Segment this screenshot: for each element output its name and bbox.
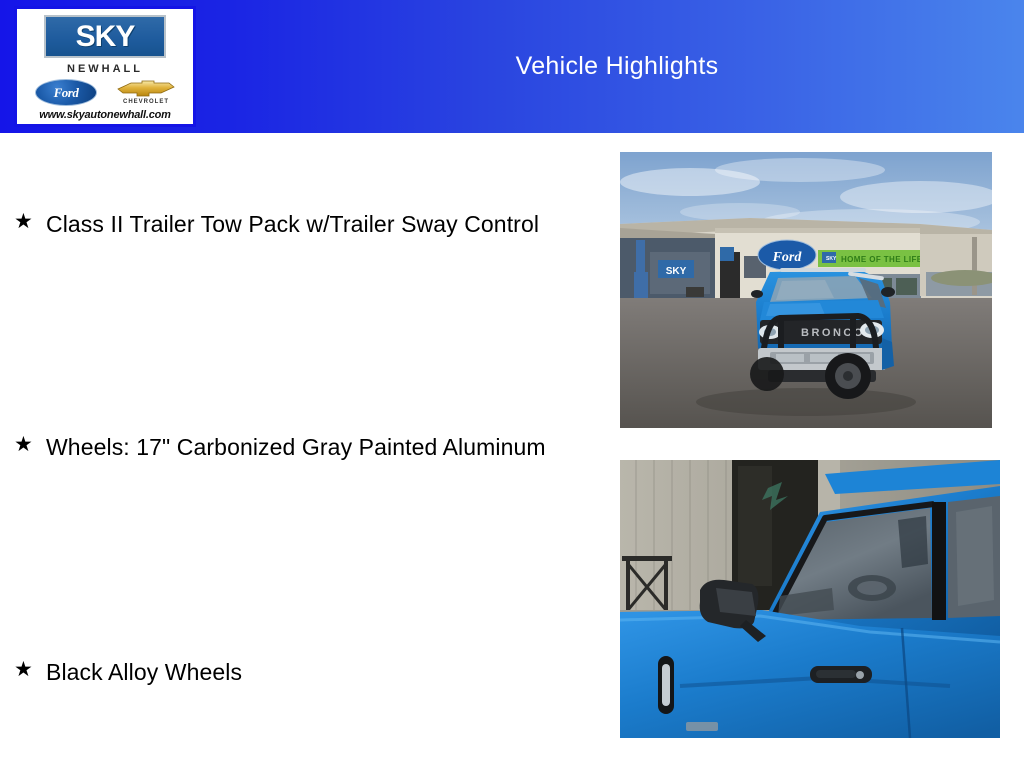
dealer-website-url[interactable]: www.skyautonewhall.com [39,109,171,121]
star-bullet-icon: ★ [14,430,46,460]
vehicle-photo-exterior-front[interactable]: SKY Ford SKY HOME OF THE LIFETIME WARRAN… [620,152,992,428]
chevrolet-logo-group: CHEVROLET [117,80,175,105]
vehicle-highlights-list: ★ Class II Trailer Tow Pack w/Trailer Sw… [0,133,600,768]
svg-text:Ford: Ford [772,250,803,265]
dealer-logo[interactable]: SKY NEWHALL Ford CHEVROLET [14,6,196,127]
sky-brand-badge: SKY [44,15,166,58]
star-bullet-icon: ★ [14,655,46,685]
list-item: ★ Wheels: 17" Carbonized Gray Painted Al… [14,430,574,464]
dealer-location-text: NEWHALL [67,63,143,75]
chevrolet-bowtie-icon [117,80,175,98]
star-bullet-icon: ★ [14,207,46,237]
page-title: Vehicle Highlights [210,0,1024,133]
highlight-text: Wheels: 17" Carbonized Gray Painted Alum… [46,430,546,464]
sky-brand-text: SKY [76,22,135,52]
highlight-text: Class II Trailer Tow Pack w/Trailer Sway… [46,207,539,241]
svg-text:SKY: SKY [666,266,687,277]
franchise-logos-row: Ford CHEVROLET [25,79,185,106]
highlight-text: Black Alloy Wheels [46,655,242,689]
list-item: ★ Class II Trailer Tow Pack w/Trailer Sw… [14,207,574,241]
ford-wordmark: Ford [54,85,79,101]
chevrolet-wordmark: CHEVROLET [123,99,169,105]
vehicle-photo-door-closeup[interactable] [620,460,1000,738]
svg-text:SKY: SKY [826,256,837,262]
list-item: ★ Black Alloy Wheels [14,655,574,689]
ford-oval-icon: Ford [35,79,97,106]
